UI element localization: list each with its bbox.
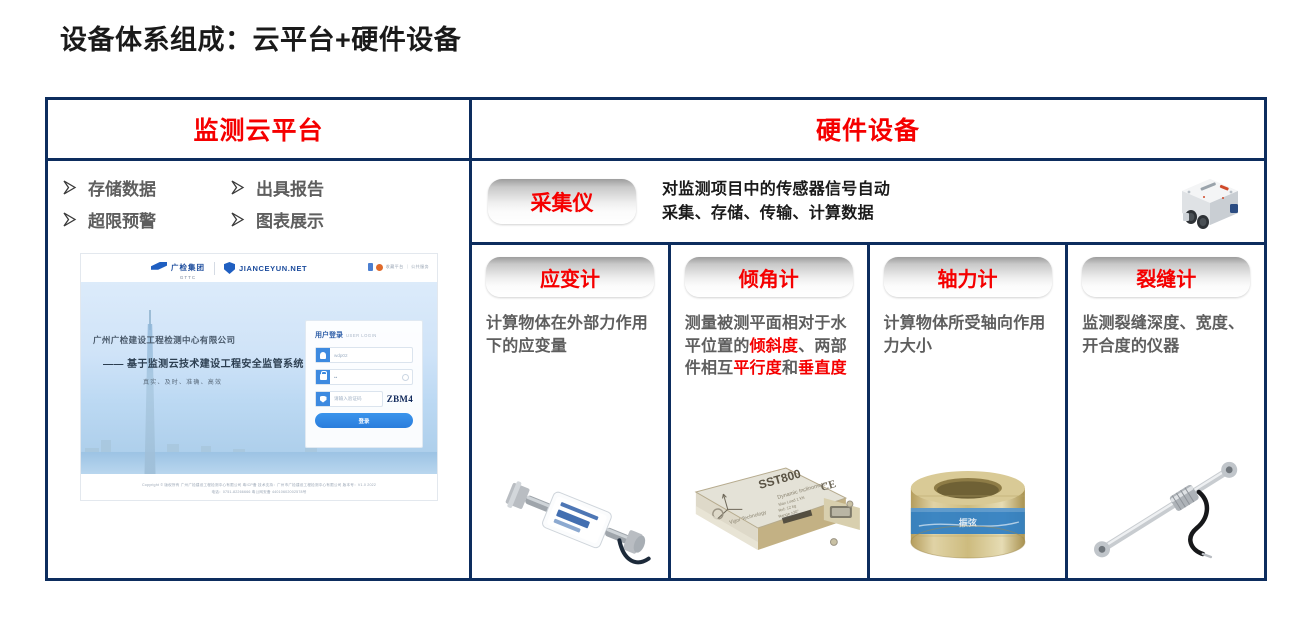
hero-tagline: 真实、及时、准确、高效 (143, 377, 222, 386)
hardware-header: 硬件设备 (472, 100, 1264, 161)
list-item-label: 图表展示 (256, 207, 324, 232)
brand-logo: 广检集团 GTTC JIANCEYUN.NET (151, 257, 307, 280)
screenshot-footer: Copyright © 版权所有 广州广检建设工程检测中心有限公司 粤ICP备 … (81, 474, 437, 501)
desc-part-highlight: 平行度 (733, 360, 782, 377)
brand-logo-text: 广检集团 GTTC (171, 257, 205, 280)
desc-part: 计算物体在外部力作用下的应变量 (486, 315, 648, 355)
device-card-axial-force-gauge: 轴力计 计算物体所受轴向作用力大小 (870, 245, 1069, 578)
username-field[interactable]: wdp02 (315, 347, 413, 363)
login-panel-header: 用户登录 USER LOGIN (315, 330, 413, 340)
site-domain-label: JIANCEYUN.NET (239, 264, 307, 273)
wechat-icon (376, 264, 383, 271)
lock-icon (316, 370, 330, 384)
arrow-bullet-icon (230, 211, 247, 228)
collector-pill: 采集仪 (488, 179, 636, 224)
inclinometer-description: 测量被测平面相对于水平位置的倾斜度、两部件相互平行度和垂直度 (685, 313, 857, 381)
strain-gauge-photo (472, 446, 668, 574)
captcha-row: 请输入验证码 ZBM4 (315, 391, 413, 407)
hardware-header-label: 硬件设备 (816, 111, 920, 147)
captcha-placeholder: 请输入验证码 (330, 396, 362, 402)
axial-force-gauge-description: 计算物体所受轴向作用力大小 (884, 313, 1056, 358)
strain-gauge-pill: 应变计 (486, 257, 654, 297)
footer-line-1: Copyright © 版权所有 广州广检建设工程检测中心有限公司 粤ICP备 … (142, 483, 376, 488)
brand-name-cn: 广检集团 (171, 263, 205, 272)
list-item: 图表展示 (230, 207, 469, 232)
crack-meter-photo (1068, 446, 1264, 574)
arrow-bullet-icon (62, 211, 79, 228)
password-value: •• (330, 375, 337, 380)
logo-divider (214, 262, 215, 275)
cloud-platform-feature-list: 存储数据 出具报告 超限预警 (48, 175, 469, 232)
screenshot-topbar: 广检集团 GTTC JIANCEYUN.NET 收藏平台 ｜ 公共服务 (81, 254, 437, 282)
device-card-inclinometer: 倾角计 测量被测平面相对于水平位置的倾斜度、两部件相互平行度和垂直度 SST80… (671, 245, 870, 578)
list-item-label: 存储数据 (88, 175, 156, 200)
cloud-platform-column: 监测云平台 存储数据 出具报告 (48, 100, 472, 578)
hardware-column: 硬件设备 采集仪 对监测项目中的传感器信号自动 采集、存储、传输、计算数据 (472, 100, 1264, 578)
login-submit-button[interactable]: 登录 (315, 413, 413, 428)
list-item-label: 超限预警 (88, 207, 156, 232)
device-card-crack-meter: 裂缝计 监测裂缝深度、宽度、开合度的仪器 (1068, 245, 1264, 578)
cloud-platform-header: 监测云平台 (48, 100, 469, 161)
screenshot-hero: 广州广检建设工程检测中心有限公司 —— 基于监测云技术建设工程安全监管系统 真实… (81, 282, 437, 474)
desc-part: 监测裂缝深度、宽度、开合度的仪器 (1082, 315, 1244, 355)
canton-tower-art (137, 324, 163, 474)
verify-shield-icon (316, 392, 330, 406)
screenshot-topbar-links[interactable]: 收藏平台 ｜ 公共服务 (368, 263, 429, 271)
crack-meter-pill: 裂缝计 (1082, 257, 1250, 297)
page-title: 设备体系组成：云平台+硬件设备 (60, 18, 461, 57)
arrow-bullet-icon (62, 179, 79, 196)
slide-root: 设备体系组成：云平台+硬件设备 监测云平台 存储数据 (0, 0, 1312, 640)
mobile-icon (368, 263, 373, 271)
captcha-code[interactable]: ZBM4 (387, 394, 413, 404)
list-item: 存储数据 (62, 175, 230, 200)
svg-text:CE: CE (819, 478, 837, 494)
list-item: 出具报告 (230, 175, 469, 200)
cloud-platform-screenshot: 广检集团 GTTC JIANCEYUN.NET 收藏平台 ｜ 公共服务 (80, 253, 438, 501)
axial-force-gauge-pill: 轴力计 (884, 257, 1052, 297)
desc-part-highlight: 倾斜度 (750, 338, 799, 355)
list-item: 超限预警 (62, 207, 230, 232)
list-item-label: 出具报告 (256, 175, 324, 200)
collector-description-line2: 采集、存储、传输、计算数据 (662, 202, 890, 225)
cloud-platform-header-label: 监测云平台 (193, 111, 323, 147)
topbar-links-label: 收藏平台 ｜ 公共服务 (386, 264, 429, 270)
username-value: wdp02 (330, 353, 348, 358)
device-row: 应变计 计算物体在外部力作用下的应变量 (472, 245, 1264, 578)
inclinometer-pill: 倾角计 (685, 257, 853, 297)
eye-icon[interactable] (402, 374, 409, 381)
desc-part: 和 (782, 360, 798, 377)
collector-description: 对监测项目中的传感器信号自动 采集、存储、传输、计算数据 (662, 178, 890, 224)
inclinometer-photo: SST800 Dynamic Inclinometer Max Load 1 k… (671, 446, 867, 574)
arrow-bullet-icon (230, 179, 247, 196)
gttc-logo-icon (151, 262, 167, 274)
user-icon (316, 348, 330, 362)
axial-force-gauge-photo: 振弦 (870, 446, 1066, 574)
river-art (81, 452, 437, 474)
footer-line-2: 电话：0751-82266666 粤公网安备 44010602002578号 (211, 490, 306, 495)
captcha-input[interactable]: 请输入验证码 (315, 391, 383, 407)
hero-subtitle: —— 基于监测云技术建设工程安全监管系统 (103, 355, 304, 370)
collector-row: 采集仪 对监测项目中的传感器信号自动 采集、存储、传输、计算数据 (472, 161, 1264, 245)
brand-name-en: GTTC (171, 275, 205, 280)
login-title-cn: 用户登录 (315, 330, 343, 340)
password-field[interactable]: •• (315, 369, 413, 385)
device-system-table: 监测云平台 存储数据 出具报告 (45, 97, 1267, 581)
collector-description-line1: 对监测项目中的传感器信号自动 (662, 178, 890, 201)
desc-part: 计算物体所受轴向作用力大小 (884, 315, 1046, 355)
shield-icon (224, 262, 235, 274)
login-title-en: USER LOGIN (346, 333, 377, 338)
data-acquisition-unit-photo (1160, 167, 1256, 239)
desc-part-highlight: 垂直度 (798, 360, 847, 377)
hero-company-name: 广州广检建设工程检测中心有限公司 (93, 334, 235, 346)
device-card-strain-gauge: 应变计 计算物体在外部力作用下的应变量 (472, 245, 671, 578)
strain-gauge-description: 计算物体在外部力作用下的应变量 (486, 313, 658, 358)
cloud-platform-body: 存储数据 出具报告 超限预警 (48, 161, 469, 578)
login-panel: 用户登录 USER LOGIN wdp02 •• (305, 320, 423, 448)
crack-meter-description: 监测裂缝深度、宽度、开合度的仪器 (1082, 313, 1254, 358)
